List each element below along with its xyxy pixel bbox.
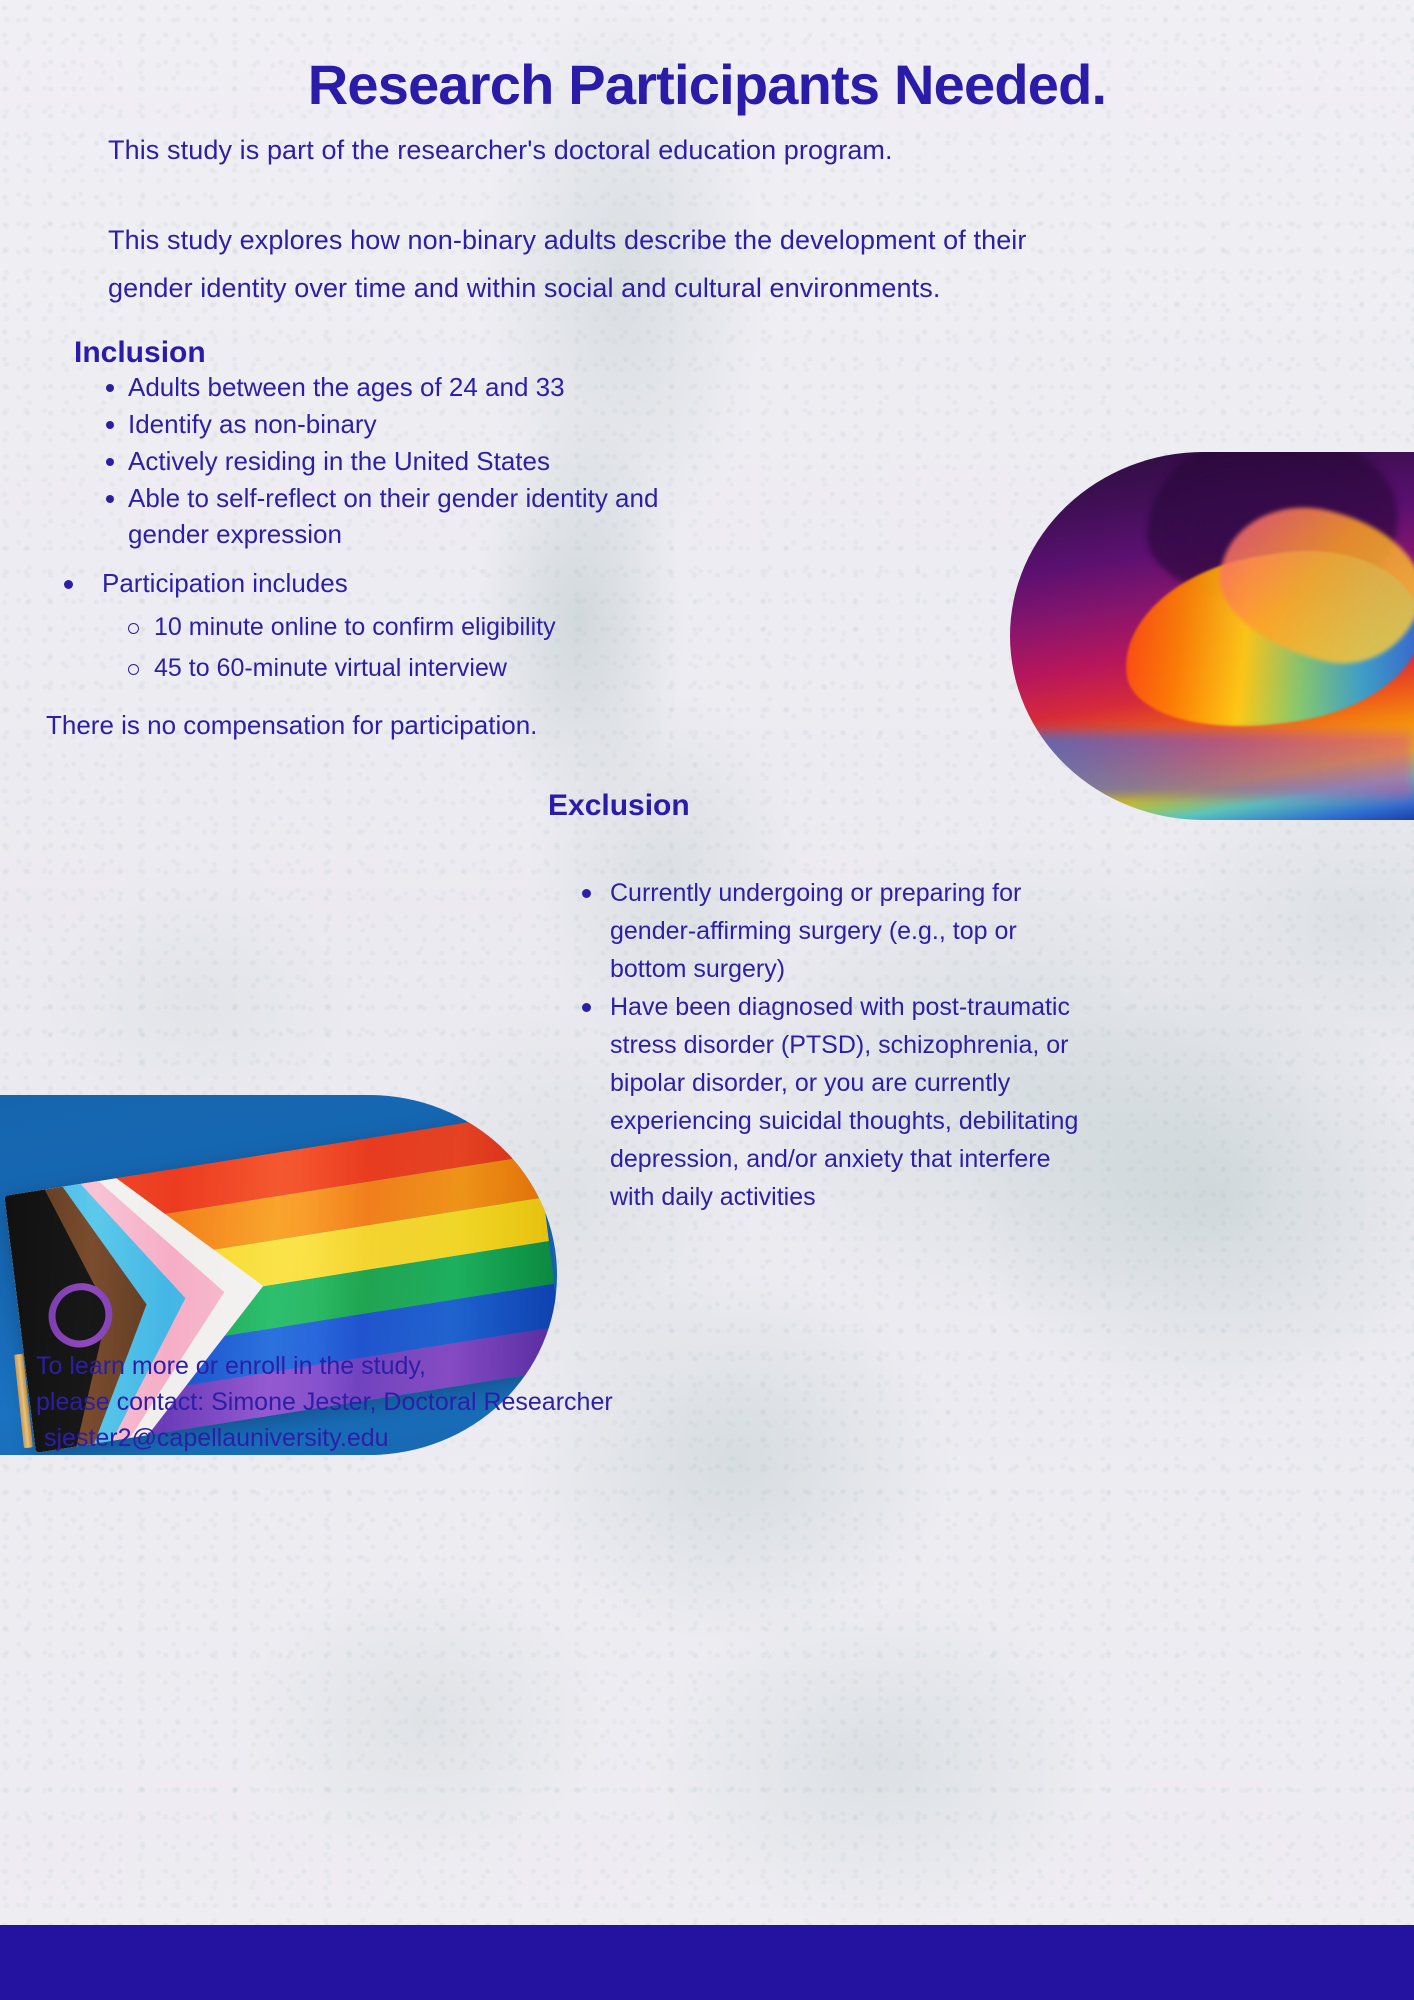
list-item: Adults between the ages of 24 and 33	[80, 369, 720, 405]
intro-paragraph-2: This study explores how non-binary adult…	[108, 216, 1108, 312]
contact-email[interactable]: sjester2@capellauniversity.edu	[36, 1420, 613, 1456]
list-item: Have been diagnosed with post-traumatic …	[570, 988, 1090, 1216]
participation-block: Participation includes 10 minute online …	[54, 565, 714, 689]
list-item: Actively residing in the United States	[80, 443, 720, 479]
participation-sub-list: 10 minute online to confirm eligibility …	[54, 607, 714, 689]
bottom-accent-bar	[0, 1925, 1414, 2000]
intro-paragraph-1: This study is part of the researcher's d…	[108, 135, 893, 166]
contact-block: To learn more or enroll in the study, pl…	[36, 1348, 613, 1456]
page-title: Research Participants Needed.	[0, 52, 1414, 117]
exclusion-heading: Exclusion	[548, 789, 690, 823]
list-item: 10 minute online to confirm eligibility	[54, 607, 714, 648]
list-item: Able to self-reflect on their gender ide…	[80, 480, 720, 552]
poster-page: Research Participants Needed. This study…	[0, 0, 1414, 2000]
participation-label: Participation includes	[54, 565, 714, 601]
inclusion-list: Adults between the ages of 24 and 33 Ide…	[80, 369, 720, 553]
rainbow-hands-photo	[1010, 452, 1414, 820]
exclusion-list: Currently undergoing or preparing for ge…	[570, 874, 1090, 1216]
list-item: 45 to 60-minute virtual interview	[54, 648, 714, 689]
contact-line-1: To learn more or enroll in the study,	[36, 1348, 613, 1384]
hands-photo-glow	[1010, 732, 1414, 798]
contact-line-2: please contact: Simone Jester, Doctoral …	[36, 1384, 613, 1420]
inclusion-heading: Inclusion	[74, 336, 206, 370]
list-item: Identify as non-binary	[80, 406, 720, 442]
list-item: Currently undergoing or preparing for ge…	[570, 874, 1090, 988]
compensation-note: There is no compensation for participati…	[46, 710, 537, 741]
